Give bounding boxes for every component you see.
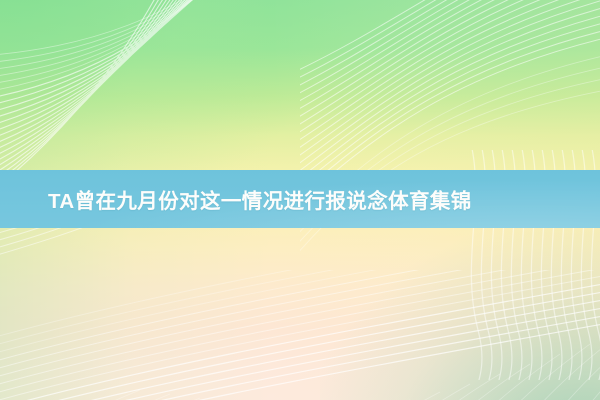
headline-band: TA曾在九月份对这一情况进行报说念体育集锦 [0,170,600,228]
teal-corner-glow [320,230,600,400]
banner-image: TA曾在九月份对这一情况进行报说念体育集锦 [0,0,600,400]
headline-text: TA曾在九月份对这一情况进行报说念体育集锦 [48,170,472,228]
